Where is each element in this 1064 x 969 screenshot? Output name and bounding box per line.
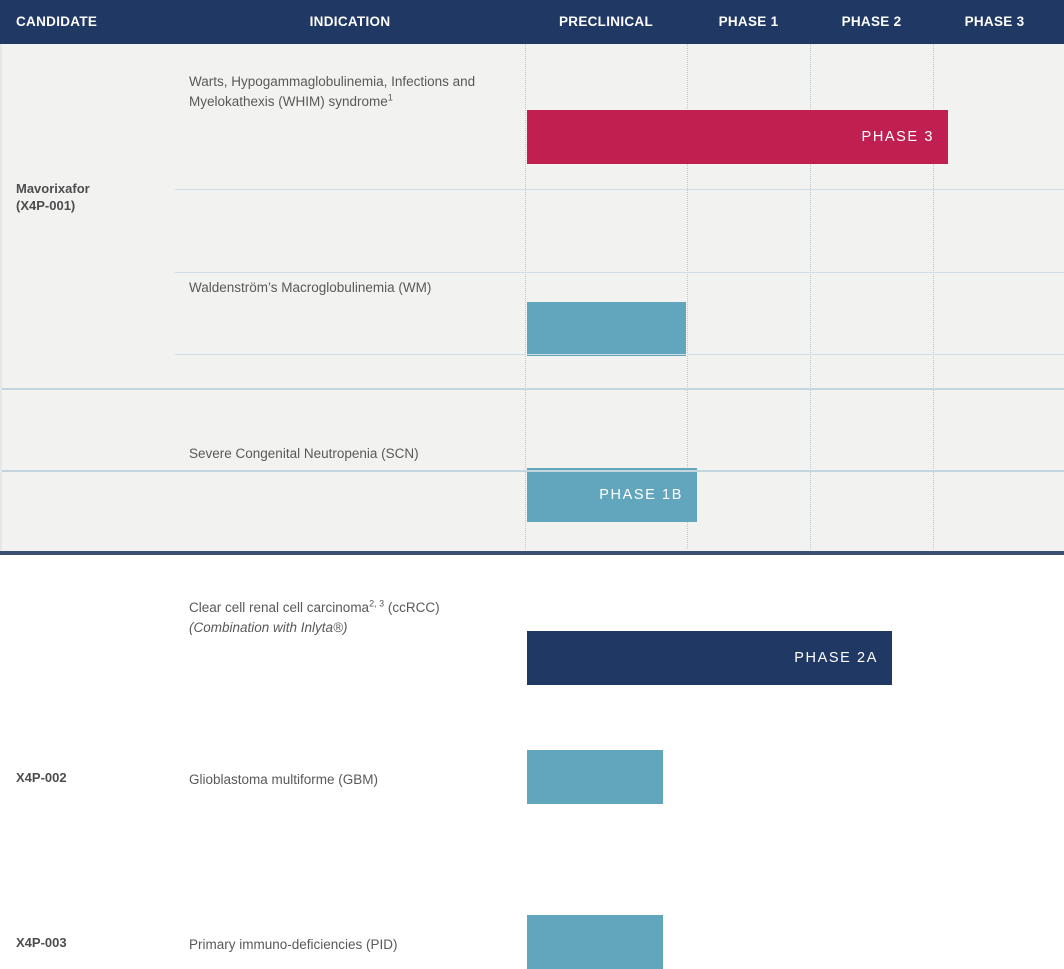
indication-footnote: 1 [388, 93, 393, 103]
column-header-phase-3: PHASE 3 [933, 0, 1056, 44]
table-header: CANDIDATE INDICATION PRECLINICAL PHASE 1… [0, 0, 1064, 44]
row-separator [175, 189, 1064, 190]
group-separator [0, 388, 1064, 390]
indication-footnote: 2, 3 [369, 599, 384, 609]
indication-label: Glioblastoma multiforme (GBM) [189, 770, 519, 790]
group-separator [0, 470, 1064, 472]
column-header-preclinical: PRECLINICAL [525, 0, 687, 44]
pipeline-chart: CANDIDATE INDICATION PRECLINICAL PHASE 1… [0, 0, 1064, 555]
table-row[interactable]: X4P-002 Glioblastoma multiforme (GBM) [0, 392, 1064, 470]
table-row[interactable]: Waldenström’s Macroglobulinemia (WM) [0, 146, 1064, 224]
column-header-candidate: CANDIDATE [16, 0, 97, 44]
indication-subtitle: (Combination with Inlyta®) [189, 620, 348, 635]
pipeline-body: Warts, Hypogammaglobulinemia, Infections… [0, 44, 1064, 549]
candidate-label: X4P-002 [16, 769, 67, 786]
left-edge-rule [0, 44, 2, 553]
indication-suffix: (ccRCC) [384, 600, 440, 615]
column-header-phase-2: PHASE 2 [810, 0, 933, 44]
indication-text: Warts, Hypogammaglobulinemia, Infections… [189, 74, 475, 109]
indication-label: Warts, Hypogammaglobulinemia, Infections… [189, 72, 519, 112]
phase-bar-gbm[interactable] [527, 750, 663, 804]
indication-text: Glioblastoma multiforme (GBM) [189, 772, 378, 787]
candidate-label-mavorixafor: Mavorixafor (X4P-001) [16, 180, 90, 214]
phase-bar-label: PHASE 2A [794, 631, 878, 685]
row-separator [175, 354, 1064, 355]
candidate-label: X4P-003 [16, 934, 67, 951]
table-row[interactable]: X4P-003 Primary immuno-deficiencies (PID… [0, 474, 1064, 552]
bottom-rule [0, 551, 1064, 555]
indication-text: Clear cell renal cell carcinoma [189, 600, 369, 615]
column-header-indication: INDICATION [175, 0, 525, 44]
table-row[interactable]: Clear cell renal cell carcinoma2, 3 (ccR… [0, 312, 1064, 400]
table-row[interactable]: Severe Congenital Neutropenia (SCN) PHAS… [0, 229, 1064, 307]
indication-text: Primary immuno-deficiencies (PID) [189, 937, 398, 952]
indication-label: Clear cell renal cell carcinoma2, 3 (ccR… [189, 598, 519, 638]
phase-bar-pid[interactable] [527, 915, 663, 969]
table-row[interactable]: Warts, Hypogammaglobulinemia, Infections… [0, 44, 1064, 140]
column-header-phase-1: PHASE 1 [687, 0, 810, 44]
phase-bar-ccrcc[interactable]: PHASE 2A [527, 631, 892, 685]
indication-label: Primary immuno-deficiencies (PID) [189, 935, 519, 955]
row-separator [175, 272, 1064, 273]
